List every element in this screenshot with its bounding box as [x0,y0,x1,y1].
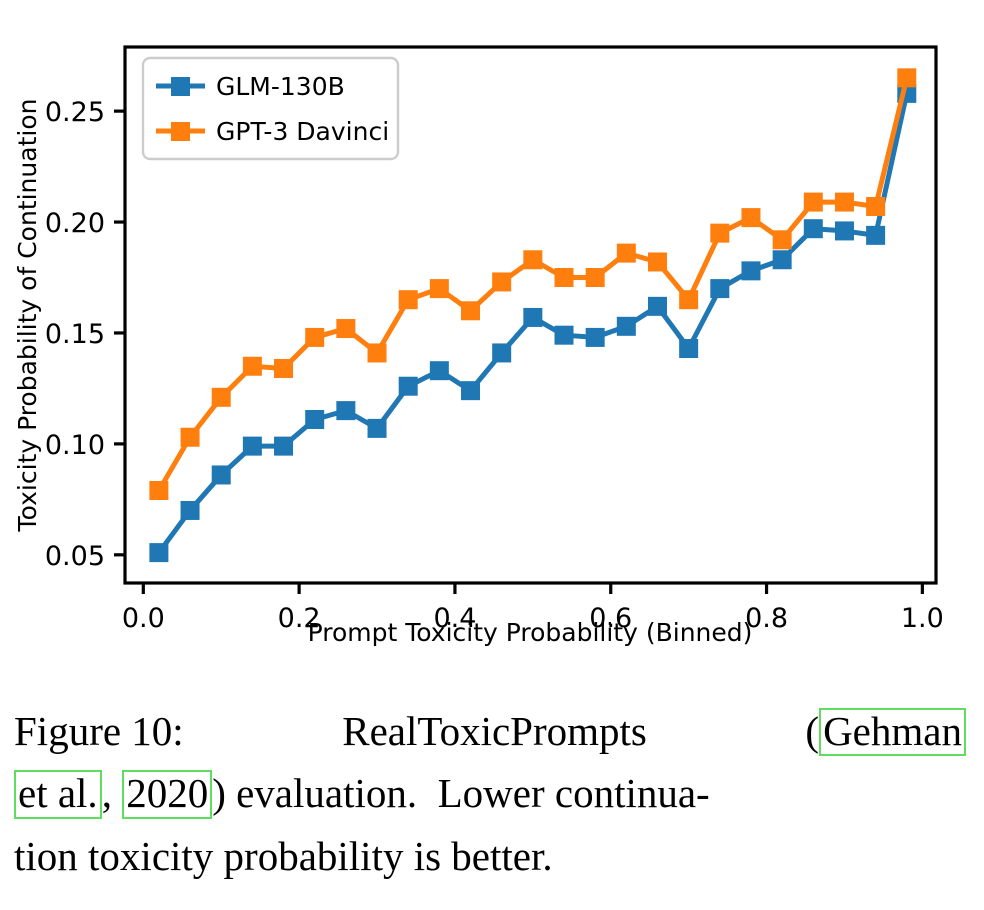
data-point-marker [274,359,293,378]
caption-tail: tion toxicity probability is better. [14,833,553,879]
y-axis-ticks: 0.050.100.150.200.25 [45,97,125,572]
chart-legend[interactable]: GLM-130B GPT-3 Davinci [143,58,398,159]
x-tick-label: 1.0 [901,603,944,634]
legend-marker-gpt3 [171,122,190,141]
data-point-marker [212,465,231,484]
data-point-marker [368,343,387,362]
data-point-marker [804,193,823,212]
data-point-marker [523,250,542,269]
y-tick-label: 0.25 [45,97,105,128]
caption-dataset-name: RealToxicPrompts [342,700,647,762]
data-point-marker [430,361,449,380]
data-point-marker [648,252,667,271]
data-point-marker [336,401,355,420]
data-point-marker [617,317,636,336]
data-point-marker [773,250,792,269]
y-tick-label: 0.05 [45,541,105,572]
data-point-marker [212,388,231,407]
data-point-marker [399,377,418,396]
data-point-marker [804,219,823,238]
caption-line-2: et al., 2020) evaluation. Lower continua… [14,762,966,824]
data-point-marker [523,308,542,327]
data-point-marker [181,428,200,447]
citation-link-etal[interactable]: et al. [14,770,102,818]
data-point-marker [679,290,698,309]
data-point-marker [835,221,854,240]
data-point-marker [741,208,760,227]
data-point-marker [243,357,262,376]
data-point-marker [710,224,729,243]
data-point-marker [586,268,605,287]
data-point-marker [897,68,916,87]
x-axis-title: Prompt Toxicity Probability (Binned) [308,618,753,647]
caption-cite-comma: , [102,770,112,816]
data-point-marker [648,297,667,316]
data-point-marker [586,328,605,347]
data-point-marker [149,543,168,562]
data-point-marker [243,437,262,456]
data-point-marker [492,343,511,362]
caption-citation-open: (Gehman [805,700,966,762]
y-axis-title: Toxicity Probability of Continuation [13,99,42,533]
data-point-marker [492,272,511,291]
data-point-marker [617,244,636,263]
data-point-marker [679,339,698,358]
legend-label-gpt3: GPT-3 Davinci [216,117,389,146]
data-point-marker [181,501,200,520]
data-point-marker [461,381,480,400]
data-point-marker [149,481,168,500]
data-point-marker [368,419,387,438]
toxicity-line-chart: 0.00.20.40.60.81.0 0.050.100.150.200.25 … [0,0,984,680]
data-point-marker [461,301,480,320]
y-tick-label: 0.15 [45,319,105,350]
caption-figure-number: Figure 10: [14,700,184,762]
data-point-marker [274,437,293,456]
caption-line-3: tion toxicity probability is better. [14,825,966,887]
y-tick-label: 0.20 [45,208,105,239]
legend-label-glm: GLM-130B [216,72,345,101]
figure-panel: 0.00.20.40.60.81.0 0.050.100.150.200.25 … [0,0,984,680]
data-point-marker [866,197,885,216]
data-point-marker [555,326,574,345]
caption-line-1: Figure 10: RealToxicPrompts (Gehman [14,700,966,762]
data-point-marker [710,279,729,298]
data-point-marker [430,279,449,298]
data-point-marker [399,290,418,309]
x-tick-label: 0.0 [122,603,165,634]
caption-evaluation-word: evaluation. [236,770,417,816]
caption-lower-cont: Lower continua- [438,770,710,816]
citation-link-year[interactable]: 2020 [122,770,212,818]
data-point-marker [866,226,885,245]
data-point-marker [741,261,760,280]
caption-paren-open: ( [805,708,819,754]
data-point-marker [773,230,792,249]
caption-paren-close: ) [212,770,226,816]
citation-link-author[interactable]: Gehman [819,708,966,756]
data-point-marker [555,268,574,287]
data-point-marker [835,193,854,212]
legend-marker-glm [171,77,190,96]
figure-caption: Figure 10: RealToxicPrompts (Gehman et a… [14,700,966,887]
y-tick-label: 0.10 [45,430,105,461]
data-point-marker [305,328,324,347]
data-point-marker [305,410,324,429]
data-point-marker [336,319,355,338]
